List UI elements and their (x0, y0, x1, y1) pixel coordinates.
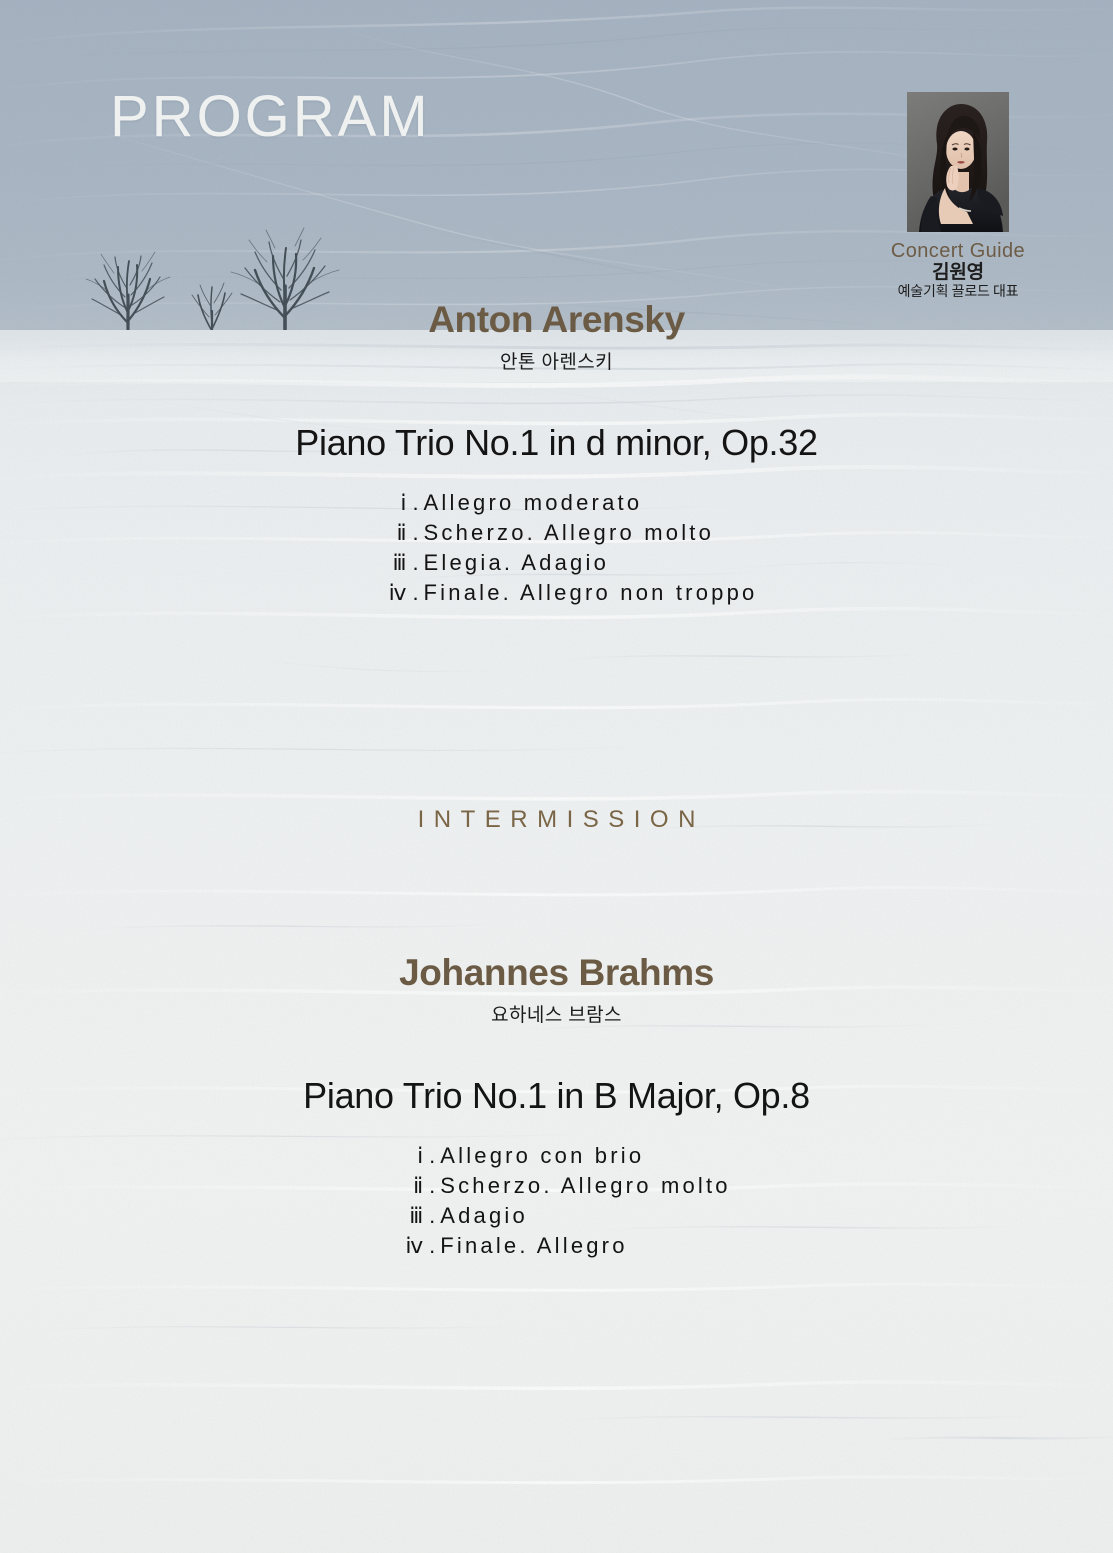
movement-item: ⅰ . Allegro con brio (382, 1143, 731, 1169)
movement-title: Scherzo. Allegro molto (424, 520, 715, 546)
movement-separator: . (424, 1173, 440, 1199)
composer-name-korean: 안톤 아렌스키 (0, 352, 1113, 375)
movement-separator: . (408, 520, 424, 546)
movement-separator: . (424, 1203, 440, 1229)
guide-portrait-photo (907, 92, 1009, 232)
movement-title: Elegia. Adagio (424, 550, 609, 576)
movement-title: Allegro con brio (440, 1143, 644, 1169)
movement-separator: . (408, 490, 424, 516)
composer-name: Johannes Brahms (0, 953, 1113, 994)
movement-title: Allegro moderato (424, 490, 643, 516)
movement-title: Scherzo. Allegro molto (440, 1173, 731, 1199)
movement-separator: . (408, 550, 424, 576)
movement-title: Finale. Allegro (440, 1233, 627, 1259)
movement-numeral: ⅲ (366, 550, 408, 576)
movement-item: ⅰ . Allegro moderato (366, 490, 758, 516)
movement-item: ⅲ . Elegia. Adagio (366, 550, 758, 576)
movement-item: ⅳ . Finale. Allegro (382, 1233, 731, 1259)
composer-name: Anton Arensky (0, 300, 1113, 341)
movement-numeral: ⅳ (382, 1233, 424, 1259)
movement-item: ⅱ . Scherzo. Allegro molto (366, 520, 758, 546)
movement-separator: . (424, 1143, 440, 1169)
movement-numeral: ⅱ (366, 520, 408, 546)
guide-name: 김원영 (858, 263, 1058, 283)
movement-numeral: ⅰ (366, 490, 408, 516)
program-section-arensky: Anton Arensky 안톤 아렌스키 Piano Trio No.1 in… (0, 300, 1113, 610)
movement-separator: . (408, 580, 424, 606)
program-section-brahms: Johannes Brahms 요하네스 브람스 Piano Trio No.1… (0, 953, 1113, 1263)
movement-item: ⅳ . Finale. Allegro non troppo (366, 580, 758, 606)
movement-numeral: ⅱ (382, 1173, 424, 1199)
movement-item: ⅱ . Scherzo. Allegro molto (382, 1173, 731, 1199)
movement-numeral: ⅳ (366, 580, 408, 606)
page-title: PROGRAM (110, 88, 431, 146)
composer-name-korean: 요하네스 브람스 (0, 1005, 1113, 1028)
movement-separator: . (424, 1233, 440, 1259)
program-poster: PROGRAM (0, 0, 1113, 1553)
work-title: Piano Trio No.1 in B Major, Op.8 (0, 1075, 1113, 1116)
work-title: Piano Trio No.1 in d minor, Op.32 (0, 422, 1113, 463)
movement-numeral: ⅲ (382, 1203, 424, 1229)
movement-numeral: ⅰ (382, 1143, 424, 1169)
movement-item: ⅲ . Adagio (382, 1203, 731, 1229)
movement-title: Adagio (440, 1203, 528, 1229)
guide-affiliation: 예술기획 끌로드 대표 (858, 285, 1058, 300)
intermission-label: INTERMISSION (0, 806, 1113, 834)
poster-content: PROGRAM (0, 0, 1113, 1553)
movement-title: Finale. Allegro non troppo (424, 580, 758, 606)
guide-role-label: Concert Guide (858, 241, 1058, 262)
movement-list: ⅰ . Allegro moderato ⅱ . Scherzo. Allegr… (366, 490, 758, 610)
movement-list: ⅰ . Allegro con brio ⅱ . Scherzo. Allegr… (382, 1143, 731, 1263)
concert-guide-block: Concert Guide 김원영 예술기획 끌로드 대표 (858, 92, 1058, 300)
